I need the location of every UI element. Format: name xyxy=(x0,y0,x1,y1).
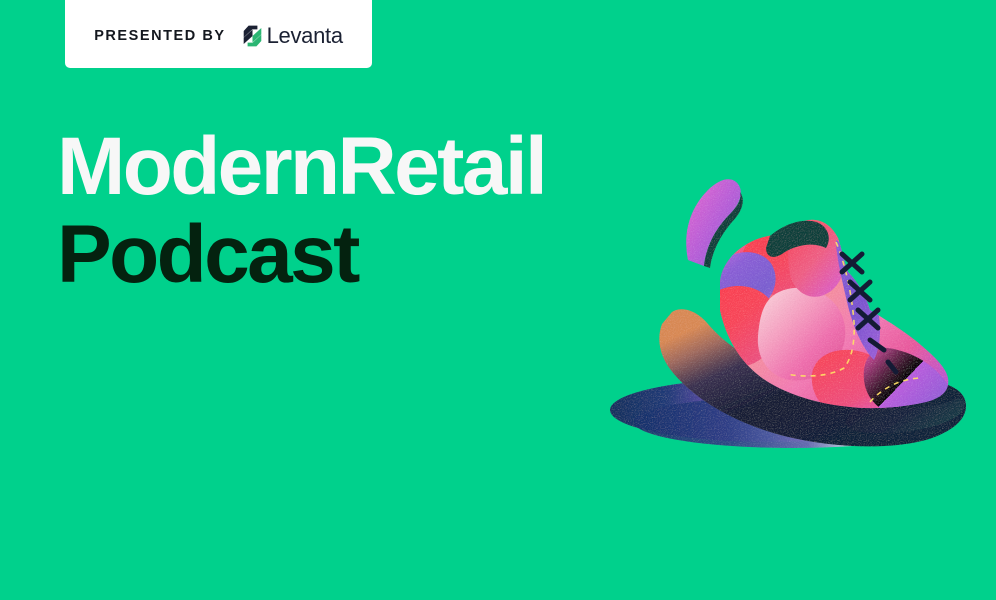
title-line-podcast: Podcast xyxy=(57,215,545,295)
presented-by-badge: PRESENTED BY Levanta xyxy=(65,0,372,68)
badge-content: PRESENTED BY Levanta xyxy=(94,25,343,47)
sponsor-lockup: Levanta xyxy=(243,25,343,47)
page-title: ModernRetail Podcast xyxy=(57,127,545,294)
levanta-logo-icon xyxy=(243,25,262,47)
title-line-brand: ModernRetail xyxy=(57,127,545,207)
sneaker-illustration xyxy=(570,110,990,470)
sponsor-name: Levanta xyxy=(267,25,343,47)
podcast-cover-canvas: PRESENTED BY Levanta ModernRetail Podcas… xyxy=(0,0,996,600)
presented-by-label: PRESENTED BY xyxy=(94,29,225,44)
